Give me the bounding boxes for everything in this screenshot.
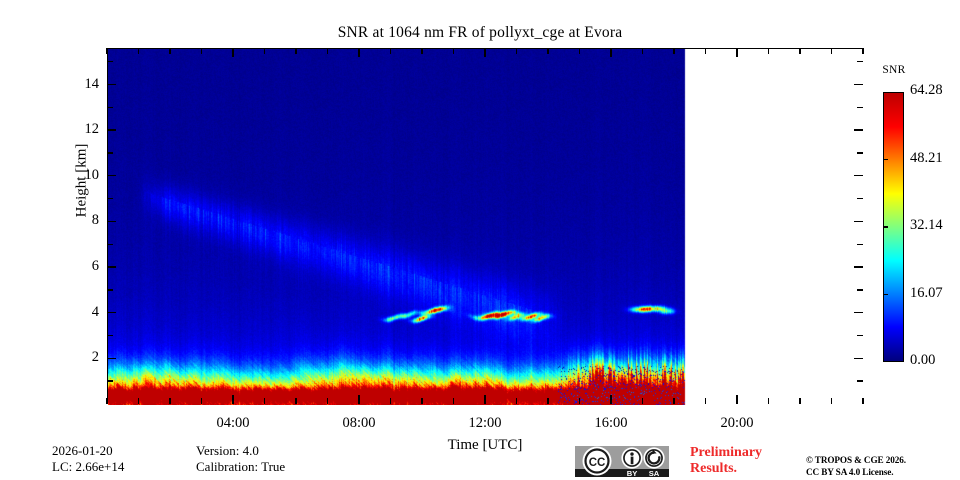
cc-by-sa-icon: CC BY SA xyxy=(572,444,672,479)
colorbar-tick-label: 32.14 xyxy=(910,217,943,234)
x-tick-minor xyxy=(201,398,202,404)
y-tick-right xyxy=(854,266,863,267)
preliminary-results-text: Preliminary Results. xyxy=(690,445,762,476)
x-tick-top xyxy=(138,48,139,54)
x-tick-top xyxy=(516,48,517,54)
x-tick-minor xyxy=(705,398,706,404)
x-tick-minor xyxy=(579,398,580,404)
colorbar-tick-label: 0.00 xyxy=(910,352,935,369)
preliminary-results-note: Preliminary Results. xyxy=(690,445,810,476)
x-tick-top xyxy=(547,48,548,54)
y-tick-major xyxy=(107,312,116,313)
x-tick-top xyxy=(736,48,737,57)
x-tick-minor xyxy=(390,398,391,404)
x-tick-major xyxy=(736,395,737,404)
x-tick-major xyxy=(358,395,359,404)
y-tick-right xyxy=(857,289,863,290)
copyright-line-1: © TROPOS & CGE 2026. xyxy=(806,455,956,467)
footer-calibration: Calibration: True xyxy=(196,459,285,475)
x-tick-minor xyxy=(547,398,548,404)
heatmap-plot-area[interactable] xyxy=(107,48,863,404)
x-tick-top xyxy=(295,48,296,54)
x-tick-minor xyxy=(327,398,328,404)
x-tick-minor xyxy=(673,398,674,404)
x-tick-label: 12:00 xyxy=(450,415,520,432)
y-tick-right xyxy=(854,84,863,85)
y-tick-label: 2 xyxy=(59,349,99,366)
y-tick-minor xyxy=(107,198,113,199)
x-tick-top xyxy=(642,48,643,54)
x-tick-minor xyxy=(862,398,863,404)
footer-version: Version: 4.0 xyxy=(196,443,259,459)
lidar-quicklook-canvas xyxy=(108,49,864,405)
x-tick-top xyxy=(862,48,863,54)
cc-by-label: BY xyxy=(627,469,638,478)
x-tick-top xyxy=(705,48,706,54)
copyright-line-2: CC BY SA 4.0 License. xyxy=(806,467,956,479)
x-tick-top xyxy=(358,48,359,57)
x-tick-label: 16:00 xyxy=(576,415,646,432)
x-tick-top xyxy=(201,48,202,54)
cc-sa-label: SA xyxy=(649,469,660,478)
y-tick-minor xyxy=(107,335,113,336)
y-tick-major xyxy=(107,175,116,176)
x-tick-minor xyxy=(106,398,107,404)
y-tick-right xyxy=(854,358,863,359)
y-tick-right xyxy=(854,312,863,313)
x-tick-top xyxy=(799,48,800,54)
x-tick-label: 20:00 xyxy=(702,415,772,432)
y-tick-major xyxy=(107,358,116,359)
x-tick-minor xyxy=(264,398,265,404)
y-tick-right xyxy=(857,61,863,62)
y-tick-major xyxy=(107,221,116,222)
x-tick-minor xyxy=(169,398,170,404)
y-tick-minor xyxy=(107,152,113,153)
colorbar-title: SNR xyxy=(856,64,932,76)
x-tick-top xyxy=(673,48,674,54)
x-tick-top xyxy=(831,48,832,54)
y-tick-major xyxy=(107,84,116,85)
y-tick-right xyxy=(857,244,863,245)
x-tick-top xyxy=(610,48,611,57)
copyright-note: © TROPOS & CGE 2026. CC BY SA 4.0 Licens… xyxy=(806,455,956,478)
x-tick-major xyxy=(610,395,611,404)
x-tick-minor xyxy=(768,398,769,404)
y-tick-right xyxy=(857,107,863,108)
y-tick-minor xyxy=(107,380,113,381)
x-tick-major xyxy=(484,395,485,404)
x-tick-top xyxy=(768,48,769,54)
x-tick-minor xyxy=(295,398,296,404)
page-title: SNR at 1064 nm FR of pollyxt_cge at Evor… xyxy=(0,24,960,42)
y-tick-minor xyxy=(107,107,113,108)
y-tick-label: 4 xyxy=(59,304,99,321)
y-tick-minor xyxy=(107,61,113,62)
x-tick-top xyxy=(264,48,265,54)
x-tick-top xyxy=(390,48,391,54)
x-tick-top xyxy=(484,48,485,57)
y-tick-minor xyxy=(107,244,113,245)
y-tick-right xyxy=(857,152,863,153)
x-tick-minor xyxy=(831,398,832,404)
y-tick-right xyxy=(857,335,863,336)
colorbar-tick xyxy=(883,159,888,160)
x-tick-major xyxy=(232,395,233,404)
y-tick-right xyxy=(857,380,863,381)
x-tick-minor xyxy=(516,398,517,404)
creative-commons-badge[interactable]: CC BY SA xyxy=(572,444,672,479)
colorbar-tick-label: 48.21 xyxy=(910,150,943,167)
y-tick-right xyxy=(854,175,863,176)
x-tick-top xyxy=(579,48,580,54)
x-tick-minor xyxy=(138,398,139,404)
y-tick-right xyxy=(854,221,863,222)
footer-lidar-constant: LC: 2.66e+14 xyxy=(52,459,124,475)
colorbar-tick-label: 16.07 xyxy=(910,285,943,302)
colorbar-tick-label: 64.28 xyxy=(910,82,943,99)
x-tick-top xyxy=(453,48,454,54)
x-tick-minor xyxy=(421,398,422,404)
y-tick-major xyxy=(107,129,116,130)
y-axis-title: Height [km] xyxy=(74,81,91,281)
x-tick-top xyxy=(232,48,233,57)
figure-root: SNR at 1064 nm FR of pollyxt_cge at Evor… xyxy=(0,0,960,480)
footer-date: 2026-01-20 xyxy=(52,443,113,459)
colorbar-tick xyxy=(883,226,888,227)
x-tick-top xyxy=(169,48,170,54)
x-tick-minor xyxy=(453,398,454,404)
svg-text:CC: CC xyxy=(589,457,606,469)
x-tick-label: 04:00 xyxy=(198,415,268,432)
y-tick-right xyxy=(854,129,863,130)
colorbar-tick xyxy=(883,294,888,295)
x-tick-top xyxy=(327,48,328,54)
x-tick-top xyxy=(106,48,107,54)
y-tick-right xyxy=(857,198,863,199)
x-tick-minor xyxy=(642,398,643,404)
x-tick-label: 08:00 xyxy=(324,415,394,432)
y-tick-minor xyxy=(107,289,113,290)
x-tick-minor xyxy=(799,398,800,404)
x-tick-top xyxy=(421,48,422,54)
y-tick-major xyxy=(107,266,116,267)
